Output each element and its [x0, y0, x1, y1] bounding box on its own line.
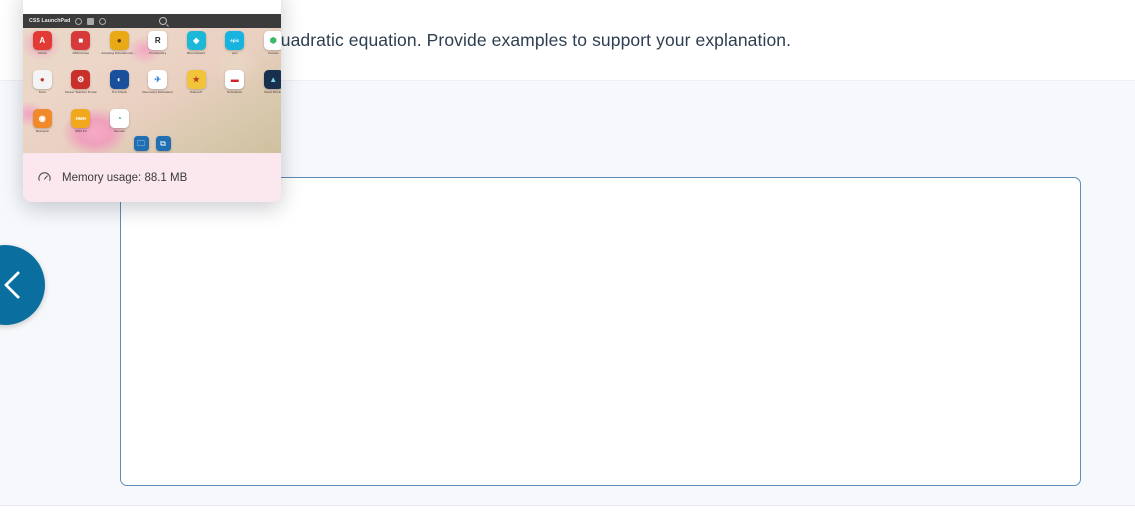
app-label: Canvas — [268, 52, 279, 56]
app-icon: ▬ — [225, 70, 244, 89]
refresh-icon[interactable] — [99, 18, 106, 25]
app-tile[interactable]: AAdobe — [23, 28, 62, 56]
app-tile[interactable]: ▬Scholastic — [216, 67, 255, 95]
app-icon: epic — [225, 31, 244, 50]
memory-usage-bar: Memory usage: 88.1 MB — [23, 153, 281, 202]
app-row: ●Sora⚙Clever Teacher Portal◐Pro Check✈Di… — [23, 67, 281, 106]
app-icon: ◉ — [33, 109, 52, 128]
memory-usage-text: Memory usage: 88.1 MB — [62, 172, 187, 184]
app-label: Pro Check — [112, 91, 127, 95]
launchpad-titlebar: CSS LaunchPad — [23, 14, 281, 28]
app-root: fects the roots of a quadratic equation.… — [0, 0, 1135, 513]
app-label: Flocabulary — [149, 52, 166, 56]
app-label: Nearpod — [36, 130, 49, 134]
app-tile[interactable]: ▲Read Works — [254, 67, 281, 95]
app-icon: A — [33, 31, 52, 50]
app-label: Read Works — [264, 91, 281, 95]
launchpad-title: CSS LaunchPad — [29, 18, 70, 24]
app-label: Sora — [39, 91, 46, 95]
app-label: epic — [232, 52, 238, 56]
launchpad-popup[interactable]: CSS LaunchPad AAdobe■ABCmouse●Amazing Ed… — [23, 0, 281, 202]
files-icon[interactable]: 🗀 — [134, 136, 149, 151]
answer-input[interactable] — [120, 177, 1081, 486]
app-tile[interactable]: ⚙Clever Teacher Portal — [62, 67, 101, 95]
app-tile[interactable]: ◆Bloomboard — [177, 28, 216, 56]
app-tile[interactable]: RFlocabulary — [139, 28, 178, 56]
app-tile[interactable]: epicepic — [216, 28, 255, 56]
app-icon: ▲ — [264, 70, 281, 89]
app-tile[interactable]: ■ABCmouse — [62, 28, 101, 56]
app-icon: ★ — [187, 70, 206, 89]
app-label: Kahoot! — [190, 91, 202, 95]
app-tile[interactable]: ⬢Canvas — [254, 28, 281, 56]
app-tile[interactable]: ●Amazing Educational Resources — [100, 28, 139, 56]
window-switcher-icon[interactable]: ⧉ — [156, 136, 171, 151]
app-icon: ● — [110, 31, 129, 50]
app-icon: R — [148, 31, 167, 50]
app-tile[interactable]: HMHHMH Ed — [62, 106, 101, 134]
app-label: Bloomboard — [187, 52, 205, 56]
app-icon: ✈ — [148, 70, 167, 89]
app-label: Clever Teacher Portal — [65, 91, 97, 95]
app-label: Scholastic — [227, 91, 242, 95]
app-label: ABCmouse — [72, 52, 89, 56]
search-icon[interactable] — [159, 17, 167, 25]
app-label: Amazing Educational Resources — [101, 52, 137, 56]
app-label: Discovery Education — [142, 91, 173, 95]
square-icon[interactable] — [87, 18, 94, 25]
app-label: Seesaw — [114, 130, 125, 134]
chevron-left-icon — [4, 271, 32, 299]
app-tile[interactable]: ◔Seesaw — [100, 106, 139, 134]
launchpad-dock: 🗀⧉ — [23, 136, 281, 151]
app-tile[interactable]: ◉Nearpod — [23, 106, 62, 134]
footer-bar — [0, 505, 1135, 513]
app-label: Adobe — [37, 52, 47, 56]
app-icon: ◔ — [110, 109, 129, 128]
app-icon: ⬢ — [264, 31, 281, 50]
app-icon: ◆ — [187, 31, 206, 50]
app-grid: AAdobe■ABCmouse●Amazing Educational Reso… — [23, 28, 281, 145]
app-icon: ■ — [71, 31, 90, 50]
app-icon: ⚙ — [71, 70, 90, 89]
app-icon: HMH — [71, 109, 90, 128]
app-row: AAdobe■ABCmouse●Amazing Educational Reso… — [23, 28, 281, 67]
app-tile[interactable]: ◐Pro Check — [100, 67, 139, 95]
app-tile[interactable]: ✈Discovery Education — [139, 67, 178, 95]
circle-icon[interactable] — [75, 18, 82, 25]
launchpad-app-grid: AAdobe■ABCmouse●Amazing Educational Reso… — [23, 28, 281, 153]
app-label: HMH Ed — [75, 130, 87, 134]
app-icon: ● — [33, 70, 52, 89]
app-tile[interactable]: ★Kahoot! — [177, 67, 216, 95]
app-icon: ◐ — [110, 70, 129, 89]
app-tile[interactable]: ●Sora — [23, 67, 62, 95]
gauge-icon — [37, 170, 52, 185]
